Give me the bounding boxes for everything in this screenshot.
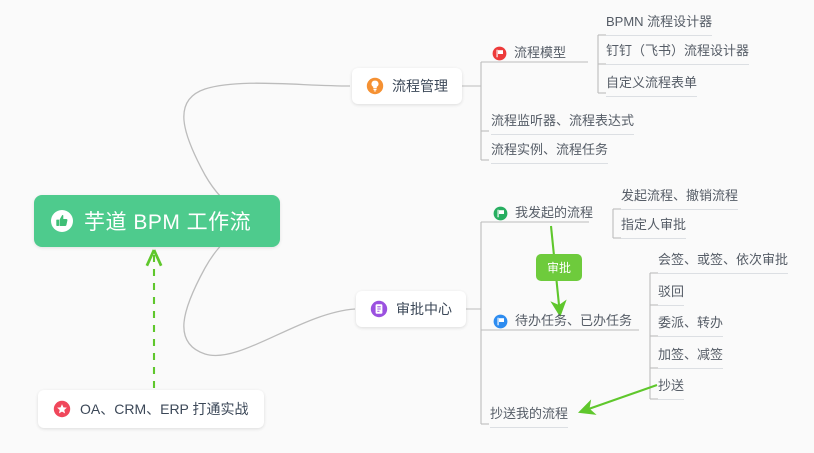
star-icon: [53, 400, 71, 418]
topic-label-cc-to-me: 抄送我的流程: [490, 406, 568, 421]
topic-label-process-listener: 流程监听器、流程表达式: [491, 113, 634, 128]
flag-icon: [492, 46, 507, 61]
topic-cc-to-me[interactable]: 抄送我的流程: [490, 404, 568, 428]
topic-label-assign-approver: 指定人审批: [621, 217, 686, 232]
topic-label-dingtalk-designer: 钉钉（飞书）流程设计器: [606, 43, 749, 58]
root-label: 芋道 BPM 工作流: [84, 206, 251, 236]
topic-label-delegate-transfer: 委派、转办: [658, 315, 723, 330]
topic-label-custom-form: 自定义流程表单: [606, 75, 697, 90]
topic-delegate-transfer[interactable]: 委派、转办: [658, 313, 723, 337]
topic-label-bpmn-designer: BPMN 流程设计器: [606, 14, 712, 29]
topic-label-reject: 驳回: [658, 284, 684, 299]
topic-assign-approver[interactable]: 指定人审批: [621, 215, 686, 239]
topic-cc[interactable]: 抄送: [658, 376, 684, 400]
branch-label-approval-center: 审批中心: [396, 299, 452, 319]
clipboard-icon: [370, 300, 388, 318]
topic-label-start-cancel-process: 发起流程、撤销流程: [621, 188, 738, 203]
flag-icon: [493, 314, 508, 329]
root-node[interactable]: 芋道 BPM 工作流: [34, 195, 280, 247]
topic-label-cc: 抄送: [658, 378, 684, 393]
topic-todo-done-tasks[interactable]: 待办任务、已办任务: [493, 311, 632, 334]
annotation-tag-label: 审批: [547, 261, 571, 275]
topic-label-my-processes: 我发起的流程: [515, 203, 593, 223]
topic-label-todo-done-tasks: 待办任务、已办任务: [515, 311, 632, 331]
branch-node-approval-center[interactable]: 审批中心: [356, 291, 466, 327]
topic-custom-form[interactable]: 自定义流程表单: [606, 73, 697, 97]
topic-process-listener[interactable]: 流程监听器、流程表达式: [491, 111, 634, 135]
annotation-arrow-cc-to-my-cc: [580, 385, 657, 412]
mindmap-canvas: 芋道 BPM 工作流 流程管理 审批中心: [0, 0, 814, 453]
topic-countersign[interactable]: 会签、或签、依次审批: [658, 250, 788, 274]
topic-start-cancel-process[interactable]: 发起流程、撤销流程: [621, 186, 738, 210]
annotation-tag-approval: 审批: [536, 254, 582, 281]
thumbs-up-icon: [50, 209, 74, 233]
topic-label-add-remove-sign: 加签、减签: [658, 347, 723, 362]
topic-process-instance[interactable]: 流程实例、流程任务: [491, 140, 608, 164]
topic-process-model[interactable]: 流程模型: [492, 43, 566, 66]
topic-bpmn-designer[interactable]: BPMN 流程设计器: [606, 12, 712, 36]
topic-label-process-model: 流程模型: [514, 43, 566, 63]
topic-dingtalk-designer[interactable]: 钉钉（飞书）流程设计器: [606, 41, 749, 65]
topic-reject[interactable]: 驳回: [658, 282, 684, 306]
note-label-integration: OA、CRM、ERP 打通实战: [80, 399, 249, 419]
note-node-integration[interactable]: OA、CRM、ERP 打通实战: [38, 390, 264, 428]
lightbulb-icon: [366, 77, 384, 95]
topic-label-countersign: 会签、或签、依次审批: [658, 252, 788, 267]
branch-node-process-management[interactable]: 流程管理: [352, 68, 462, 104]
flag-icon: [493, 206, 508, 221]
topic-my-processes[interactable]: 我发起的流程: [493, 203, 593, 226]
topic-add-remove-sign[interactable]: 加签、减签: [658, 345, 723, 369]
topic-label-process-instance: 流程实例、流程任务: [491, 142, 608, 157]
branch-label-process-management: 流程管理: [392, 76, 448, 96]
